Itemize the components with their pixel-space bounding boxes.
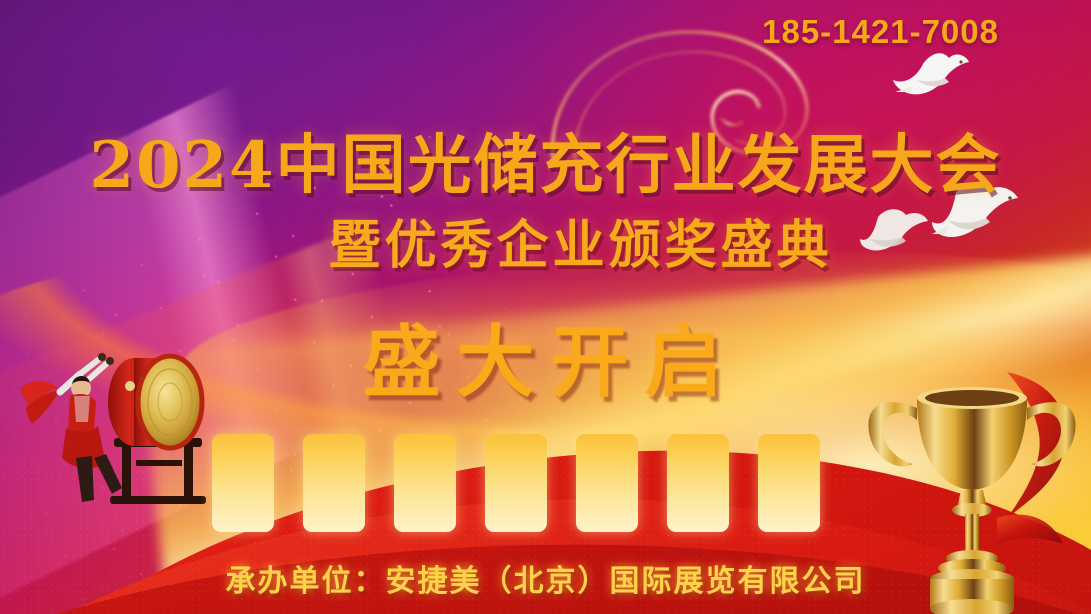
logo-placeholder-card[interactable] <box>667 434 729 532</box>
white-dove-icon <box>893 48 975 108</box>
event-banner: 185-1421-7008 2024中国光储充行业发展大会 暨优秀企业颁奖盛典 … <box>0 0 1091 614</box>
page-title: 2024中国光储充行业发展大会 <box>0 114 1091 206</box>
logo-placeholder-card[interactable] <box>758 434 820 532</box>
logo-placeholder-card[interactable] <box>303 434 365 532</box>
logo-placeholder-card[interactable] <box>485 434 547 532</box>
logo-placeholder-card[interactable] <box>394 434 456 532</box>
page-subtitle: 暨优秀企业颁奖盛典 <box>0 203 1091 278</box>
logo-placeholder-card[interactable] <box>212 434 274 532</box>
logo-placeholder-row <box>212 434 820 532</box>
logo-placeholder-card[interactable] <box>576 434 638 532</box>
grand-opening-headline: 盛大开启 <box>0 300 1091 412</box>
organizer-text: 承办单位：安捷美（北京）国际展览有限公司 <box>0 556 1091 600</box>
contact-phone-number: 185-1421-7008 <box>762 13 999 51</box>
